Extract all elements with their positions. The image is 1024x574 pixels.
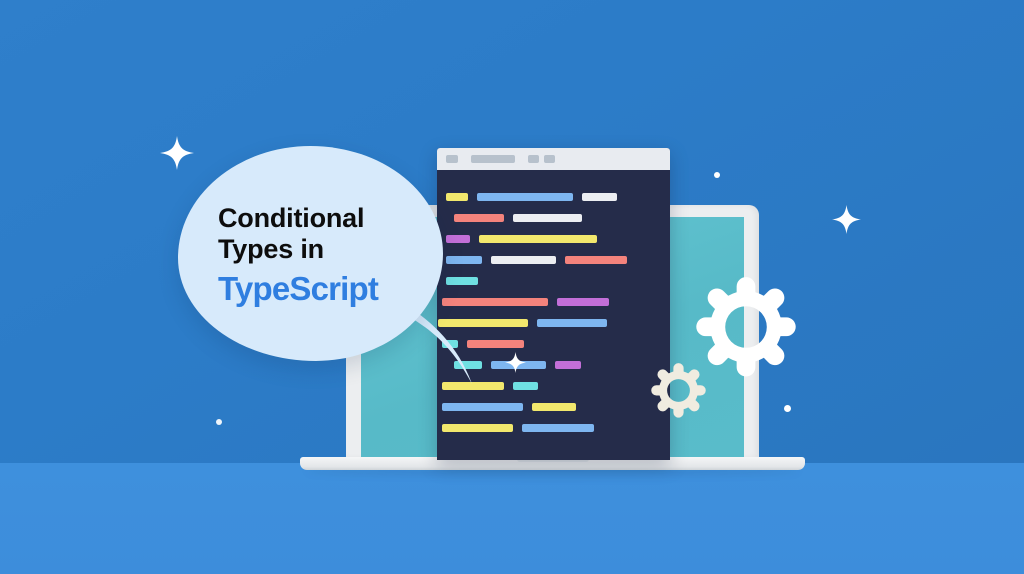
speech-bubble-text: Conditional Types in TypeScript: [218, 203, 418, 310]
code-token: [522, 424, 594, 432]
code-token: [513, 214, 582, 222]
code-token: [491, 361, 546, 369]
background-lower: [0, 463, 1024, 574]
code-token: [477, 193, 573, 201]
code-token: [582, 193, 617, 201]
code-line: [437, 396, 670, 417]
bubble-title-line-1: Conditional: [218, 203, 418, 234]
code-token: [479, 235, 597, 243]
bubble-title-line-2: Types in: [218, 234, 418, 265]
code-token: [442, 403, 523, 411]
code-token: [557, 298, 609, 306]
speech-bubble: Conditional Types in TypeScript: [178, 146, 478, 392]
code-token: [537, 319, 607, 327]
titlebar-chip: [528, 155, 539, 163]
code-token: [442, 424, 513, 432]
illustration-canvas: Conditional Types in TypeScript: [0, 0, 1024, 574]
code-token: [513, 382, 538, 390]
code-token: [491, 256, 556, 264]
code-token: [565, 256, 627, 264]
code-token: [532, 403, 576, 411]
titlebar-chip: [544, 155, 555, 163]
code-token: [555, 361, 581, 369]
bubble-title-highlight: TypeScript: [218, 268, 418, 310]
code-line: [437, 417, 670, 438]
